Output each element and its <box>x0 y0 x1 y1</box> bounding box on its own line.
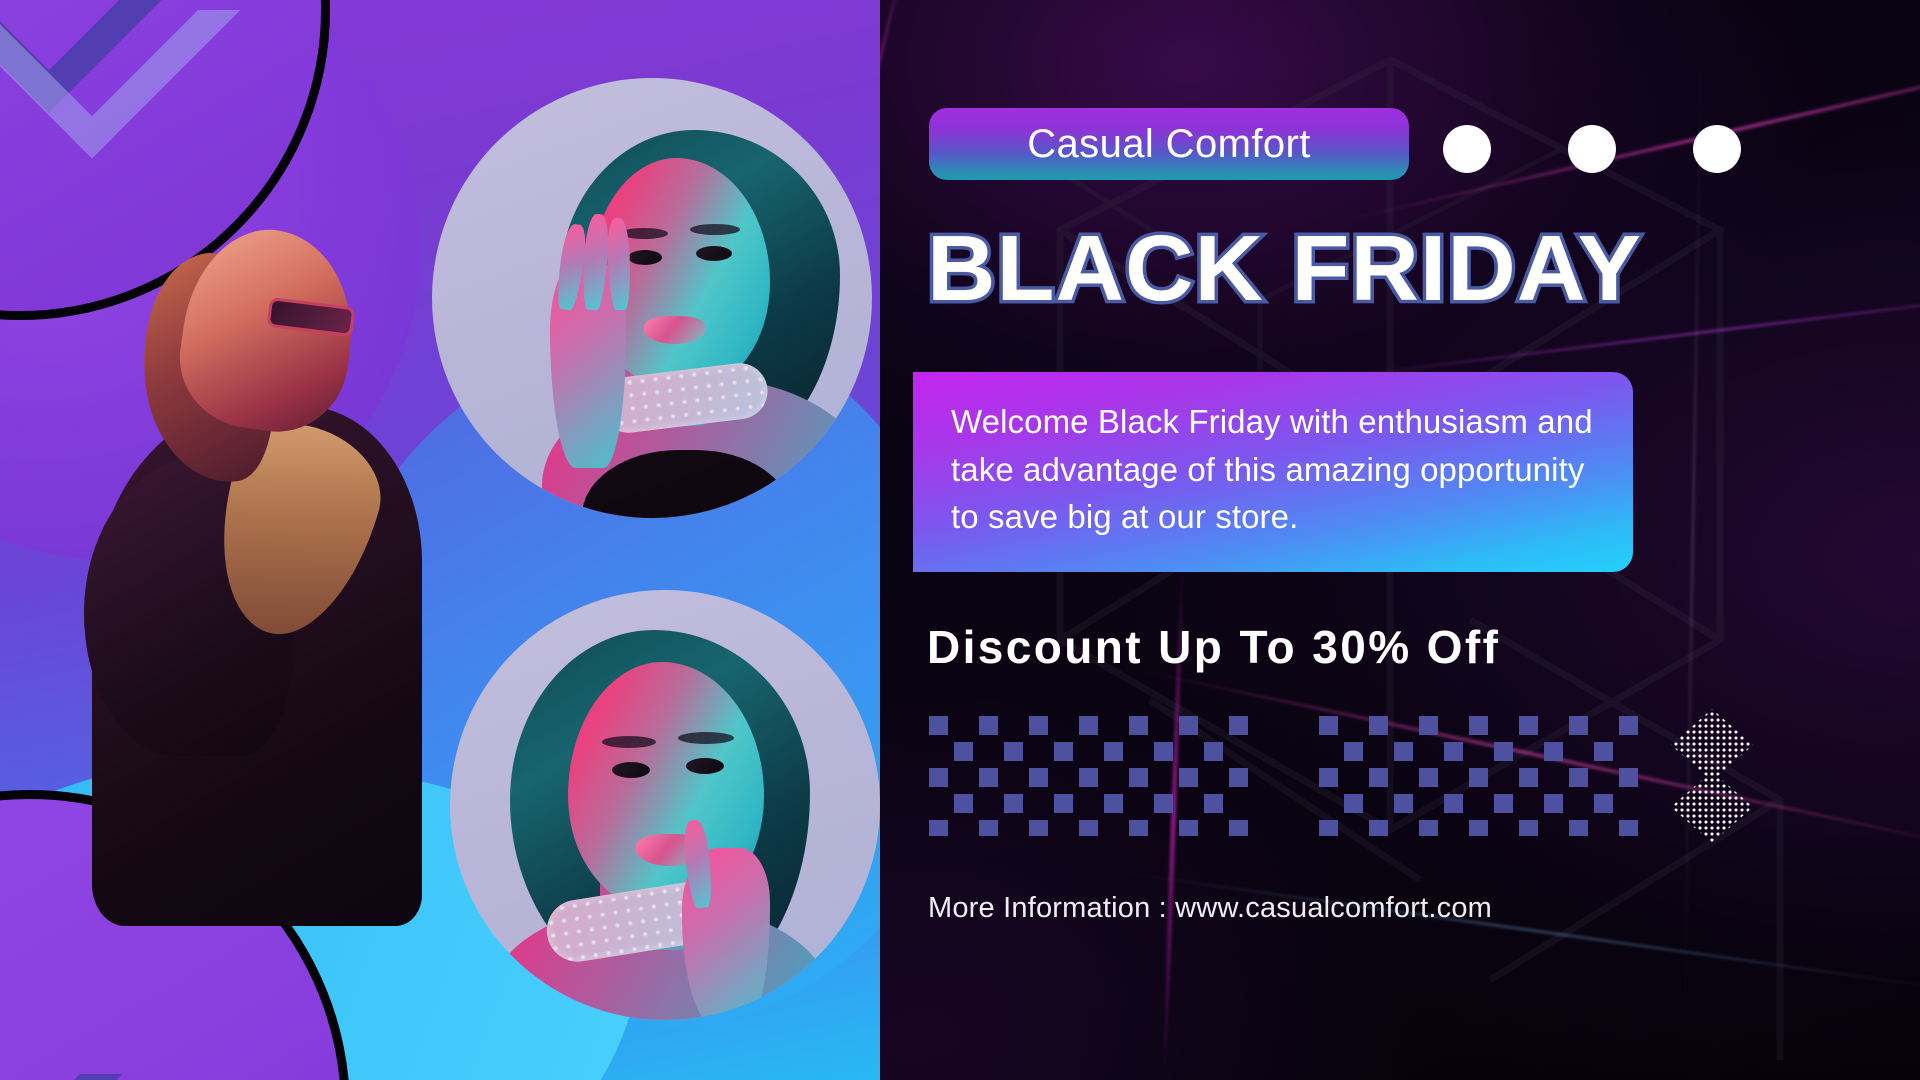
discount-headline: Discount Up To 30% Off <box>927 620 1500 674</box>
model-portrait-top <box>432 78 872 518</box>
brand-badge-label: Casual Comfort <box>1027 122 1310 167</box>
checkerboard-block <box>1319 716 1649 836</box>
description-card: Welcome Black Friday with enthusiasm and… <box>913 372 1633 572</box>
portrait-eyebrow <box>690 224 740 235</box>
checkerboard-block <box>929 716 1259 836</box>
portrait-eye <box>686 758 724 774</box>
portrait-eyebrow <box>602 736 656 748</box>
portrait-lips <box>644 316 706 344</box>
decorative-dots <box>1443 125 1741 173</box>
content-column: Casual Comfort BLACK FRIDAY Welcome Blac… <box>925 0 1920 1080</box>
more-information-text[interactable]: More Information : www.casualcomfort.com <box>928 892 1492 925</box>
page-title: BLACK FRIDAY <box>927 222 1814 315</box>
dotted-diamond-decoration <box>1667 705 1757 847</box>
portrait-eye <box>696 246 732 261</box>
description-text: Welcome Black Friday with enthusiasm and… <box>951 398 1599 541</box>
portrait-eyebrow <box>678 732 734 744</box>
dot-indicator <box>1443 125 1491 173</box>
dot-indicator <box>1693 125 1741 173</box>
chevron-icon <box>0 970 167 1080</box>
hooded-model-cutout <box>92 230 422 910</box>
chevron-icon <box>0 0 240 158</box>
dot-indicator <box>1568 125 1616 173</box>
checkerboard-decoration <box>929 716 1649 836</box>
portrait-eye <box>628 250 662 265</box>
brand-badge[interactable]: Casual Comfort <box>929 108 1409 180</box>
left-collage-artwork <box>0 0 880 1080</box>
portrait-eye <box>612 762 650 778</box>
black-friday-banner: Casual Comfort BLACK FRIDAY Welcome Blac… <box>0 0 1920 1080</box>
model-portrait-bottom <box>450 590 880 1020</box>
